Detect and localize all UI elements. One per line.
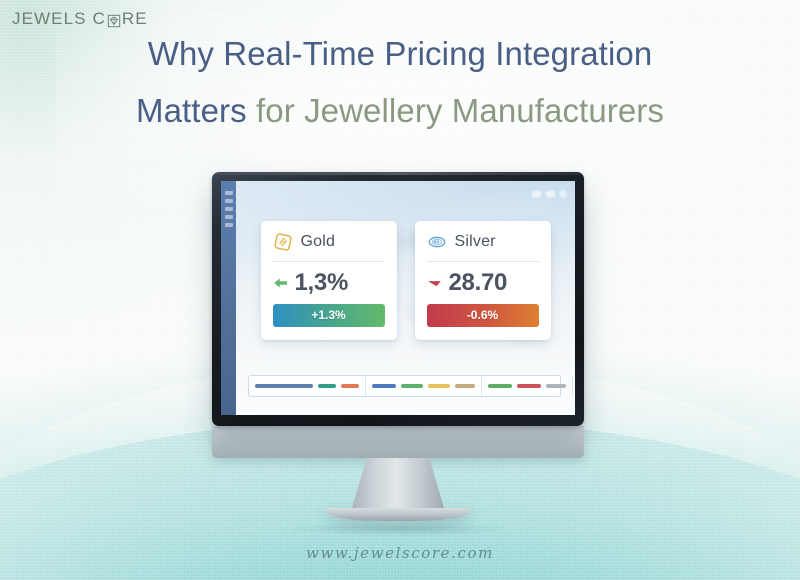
card-divider-silver xyxy=(427,261,539,262)
logo-text-before: JEWELS C xyxy=(12,9,106,29)
ticker-bar-2 xyxy=(517,384,541,388)
ticker-bar-1 xyxy=(372,384,396,388)
rail-dot-3[interactable] xyxy=(225,207,233,211)
silver-coin-icon xyxy=(427,232,447,252)
status-badge-gold: +1.3% xyxy=(273,304,385,327)
logo-text-after: RE xyxy=(122,9,148,29)
monitor-bezel: Gold 1,3% +1.3% xyxy=(212,172,584,426)
card-title-gold: Gold xyxy=(301,233,336,251)
status-badge-silver: -0.6% xyxy=(427,304,539,327)
card-header-gold: Gold xyxy=(273,232,385,261)
card-title-silver: Silver xyxy=(455,233,496,251)
card-value-row-silver: 28.70 xyxy=(427,271,539,304)
maximize-button[interactable] xyxy=(546,191,555,197)
card-value-silver: 28.70 xyxy=(449,271,508,295)
close-button[interactable] xyxy=(560,191,566,197)
headline-line-2: Matters for Jewellery Manufacturers xyxy=(0,83,800,140)
ticker-bar-1 xyxy=(488,384,512,388)
price-cards: Gold 1,3% +1.3% xyxy=(236,221,575,340)
price-card-gold[interactable]: Gold 1,3% +1.3% xyxy=(261,221,397,340)
ticker-bar-2 xyxy=(318,384,336,388)
page-title: Why Real-Time Pricing Integration Matter… xyxy=(0,26,800,140)
rail-dot-2[interactable] xyxy=(225,199,233,203)
rail-dot-5[interactable] xyxy=(225,223,233,227)
app-sidebar-rail[interactable] xyxy=(221,181,236,415)
trend-down-arrow-icon xyxy=(427,276,442,290)
ticker-bar-2 xyxy=(401,384,423,388)
gem-icon xyxy=(107,13,121,27)
ticker-group-3[interactable] xyxy=(482,376,573,396)
headline-line-1: Why Real-Time Pricing Integration xyxy=(0,26,800,83)
headline-rest: for Jewellery Manufacturers xyxy=(247,92,664,129)
minimize-button[interactable] xyxy=(532,191,541,197)
monitor-shadow xyxy=(293,523,503,535)
ticker-bar-1 xyxy=(255,384,313,388)
footer-website-url[interactable]: www.jewelscore.com xyxy=(0,544,800,562)
window-controls xyxy=(532,191,566,197)
headline-accent: Matters xyxy=(136,92,247,129)
ticker-group-4[interactable] xyxy=(573,376,575,396)
ticker-bar-4 xyxy=(455,384,475,388)
trend-up-arrow-icon xyxy=(273,276,288,290)
ticker-bar-3 xyxy=(341,384,359,388)
monitor: Gold 1,3% +1.3% xyxy=(212,172,584,535)
card-value-row-gold: 1,3% xyxy=(273,271,385,304)
monitor-stand-base xyxy=(325,508,471,521)
rail-dot-1[interactable] xyxy=(225,191,233,195)
ticker-bar-3 xyxy=(546,384,566,388)
slide-canvas: JEWELS C RE Why Real-Time Pricing Integr… xyxy=(0,0,800,580)
card-value-gold: 1,3% xyxy=(295,271,349,295)
price-card-silver[interactable]: Silver 28.70 -0.6% xyxy=(415,221,551,340)
monitor-screen: Gold 1,3% +1.3% xyxy=(221,181,575,415)
brand-logo: JEWELS C RE xyxy=(12,9,148,29)
monitor-chin xyxy=(212,426,584,458)
gem-diamond-icon xyxy=(273,232,293,252)
ticker-group-2[interactable] xyxy=(366,376,482,396)
ticker-strip[interactable] xyxy=(248,375,561,397)
rail-dot-4[interactable] xyxy=(225,215,233,219)
card-divider-gold xyxy=(273,261,385,262)
card-header-silver: Silver xyxy=(427,232,539,261)
ticker-bar-3 xyxy=(428,384,450,388)
monitor-stand-neck xyxy=(352,458,444,508)
ticker-group-1[interactable] xyxy=(249,376,366,396)
